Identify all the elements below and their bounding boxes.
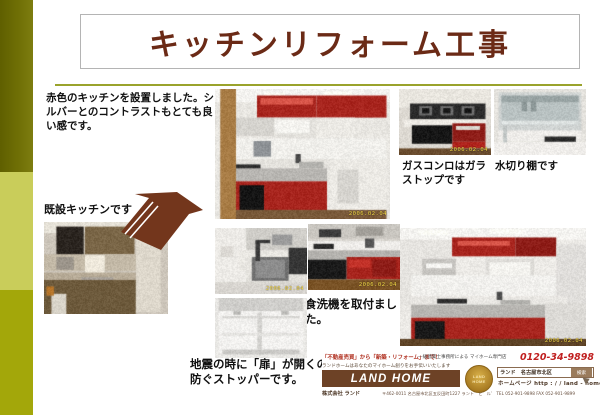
sink-faucet-photo: 2006.02.04: [215, 228, 307, 294]
footer-subline: ランドホームはあなたのマイホーム創りをお手伝いいたします: [322, 363, 450, 369]
red-cabinet-photo: 2006.02.04: [308, 224, 400, 290]
drain-shelf-photo: [494, 89, 586, 155]
caption-dishwasher: 食洗機を取付ました。: [305, 297, 405, 327]
footer-gold-seal-icon: LAND HOME: [465, 365, 493, 393]
finished-kitchen-photo: 2006.02.04: [400, 228, 586, 346]
footer-tagline-row: 「不動産売買」から「新築・リフォーム」まで！ 一級建築士事務所による マイホーム…: [322, 353, 594, 362]
caption-gas-stove: ガスコンロはガラストップです: [402, 160, 488, 188]
caption-drain-shelf: 水切り棚です: [495, 160, 575, 174]
photo-timestamp: 2006.02.04: [349, 211, 387, 217]
footer-company-address: 〒462-0011 名古屋市北区五反田町1227 ラント゛ヒ゛ル゛ TEL 05…: [382, 391, 575, 397]
left-band-top: [0, 0, 33, 172]
footer-tagline-gray: 一級建築士事務所による マイホーム専門店: [418, 354, 506, 360]
page-title: キッチンリフォーム工事: [80, 14, 580, 69]
title-underline-rule: [55, 84, 582, 86]
main-new-kitchen-photo: 2006.02.04: [215, 89, 390, 219]
footer-search-button[interactable]: 検索: [571, 368, 592, 377]
photo-timestamp: 2006.02.04: [545, 338, 583, 344]
caption-main-description: 赤色のキッチンを設置しました。シルバーとのコントラストもとても良い感です。: [46, 92, 216, 134]
cabinet-stopper-photo: [215, 298, 307, 358]
footer-search-value[interactable]: ランド 名古屋市北区: [500, 369, 552, 376]
gas-stove-photo: 2006.02.04: [399, 89, 491, 155]
footer-banner: 「不動産売買」から「新築・リフォーム」まで！ 一級建築士事務所による マイホーム…: [322, 353, 594, 403]
footer-company-name: 株式会社 ランド: [322, 390, 360, 397]
footer-phone-number: 0120-34-9898: [520, 352, 594, 363]
footer-brand-logo: LAND HOME: [322, 370, 460, 387]
footer-company-row: 株式会社 ランド 〒462-0011 名古屋市北区五反田町1227 ラント゛ヒ゛…: [322, 390, 594, 398]
photo-timestamp: 2006.02.04: [266, 286, 304, 292]
photo-timestamp: 2006.02.04: [450, 147, 488, 153]
photo-timestamp: 2006.02.04: [359, 282, 397, 288]
seal-label: LAND HOME: [466, 374, 492, 384]
left-band-bottom: [0, 290, 33, 415]
left-band-middle: [0, 172, 33, 290]
slide-root: キッチンリフォーム工事 赤色のキッチンを設置しました。シルバーとのコントラストも…: [0, 0, 600, 415]
pointer-arrow-icon: [115, 192, 205, 250]
